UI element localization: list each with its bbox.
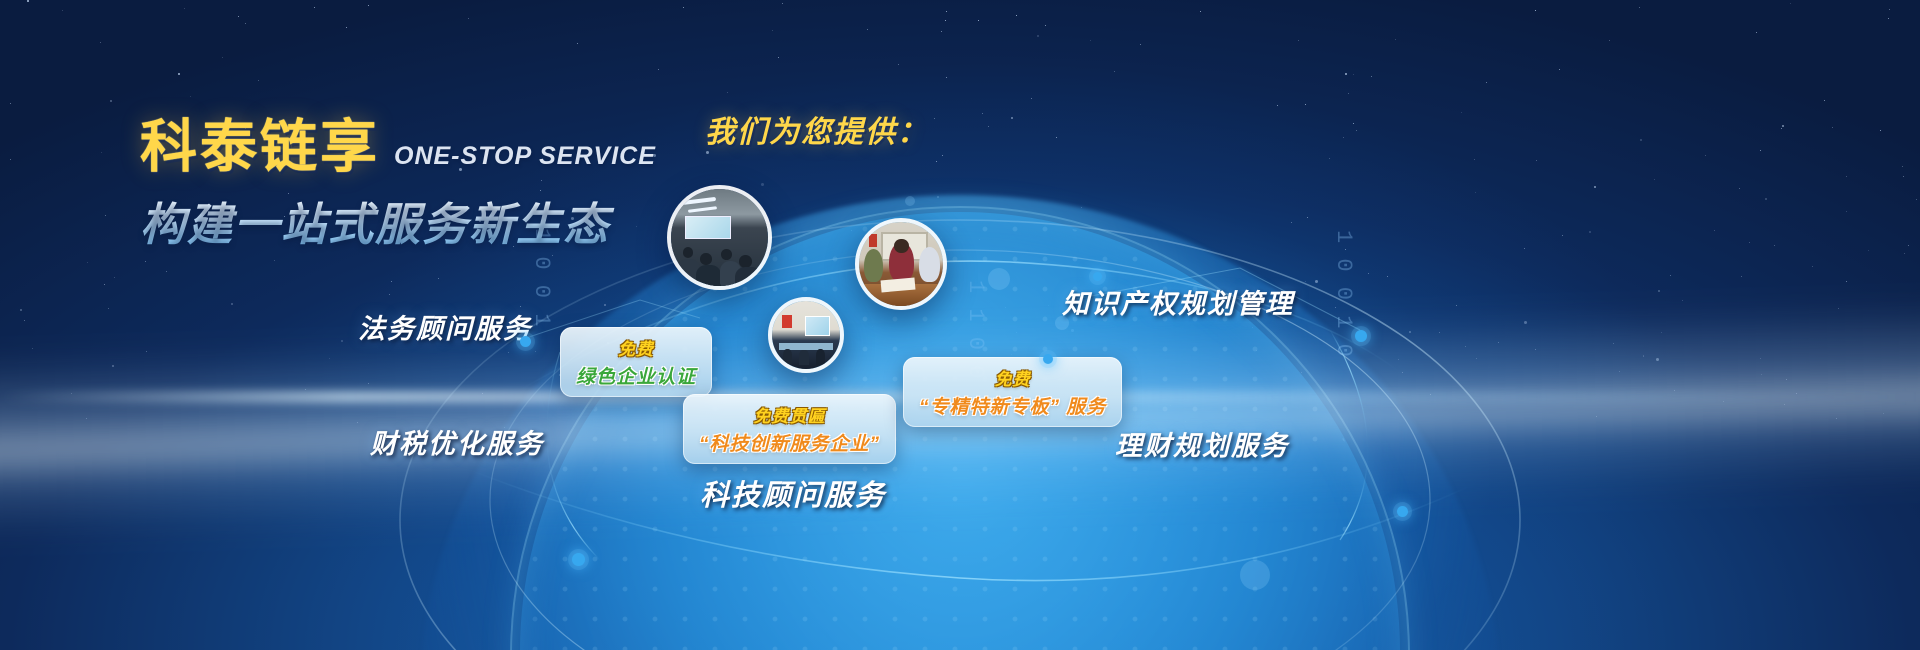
service-label-tech[interactable]: 科技顾问服务 [700, 472, 886, 514]
photo-seminar-hall [667, 185, 772, 290]
photo-office-meeting [855, 218, 947, 310]
network-node [1043, 354, 1053, 364]
badge-line2: 绿色企业认证 [576, 362, 696, 389]
brand-title-english: ONE-STOP SERVICE [394, 142, 656, 178]
network-node [572, 553, 585, 566]
badge-line1: 免费 [576, 335, 696, 360]
service-label-ip[interactable]: 知识产权规划管理 [1062, 282, 1294, 321]
provide-heading: 我们为您提供： [705, 107, 929, 151]
bubble-decoration [988, 268, 1010, 290]
service-label-wealth[interactable]: 理财规划服务 [1115, 424, 1289, 463]
photo-conference-room [768, 297, 844, 373]
badge-line1: 免费 [919, 365, 1106, 390]
network-node [1397, 506, 1408, 517]
service-label-tax[interactable]: 财税优化服务 [370, 422, 544, 461]
badge-line1: 免费贯匾 [699, 402, 880, 427]
network-node [1093, 272, 1102, 281]
badge-green-enterprise[interactable]: 免费 绿色企业认证 [560, 327, 712, 397]
network-node [1355, 330, 1367, 342]
bubble-decoration [905, 196, 915, 206]
network-node [520, 336, 531, 347]
promotional-banner: 1 0 0 1 1 1 0 0 1 0 0 1 0 科泰链享 ONE-STOP … [0, 0, 1920, 650]
badge-line2: “科技创新服务企业” [699, 429, 880, 456]
brand-title: 科泰链享 [140, 118, 380, 178]
badge-line2: “专精特新专板” 服务 [919, 392, 1106, 419]
badge-specialized-board[interactable]: 免费 “专精特新专板” 服务 [903, 357, 1122, 427]
badge-tech-innovation[interactable]: 免费贯匾 “科技创新服务企业” [683, 394, 896, 464]
bubble-decoration [1240, 560, 1270, 590]
service-label-legal[interactable]: 法务顾问服务 [358, 307, 532, 346]
